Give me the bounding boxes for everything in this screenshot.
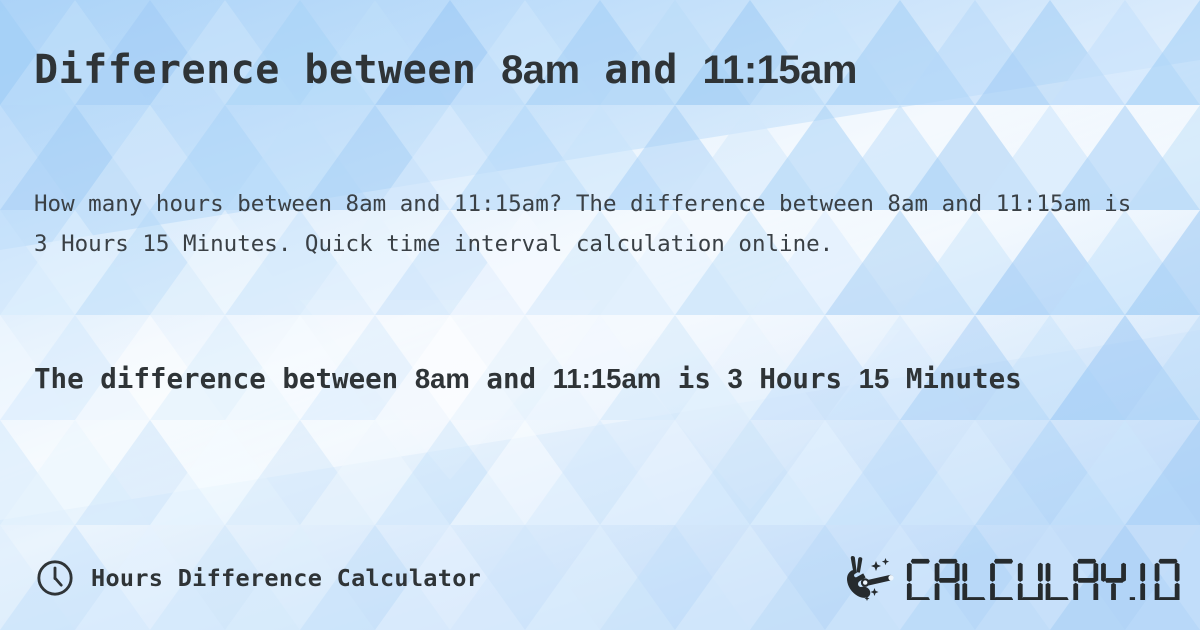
summary-paragraph: How many hours between 8am and 11:15am? … bbox=[34, 184, 1144, 264]
footer-tool-label: Hours Difference Calculator bbox=[91, 564, 481, 592]
answer-heading: The difference between 8am and 11:15am i… bbox=[34, 355, 1094, 403]
answer-hours-value: 3 bbox=[727, 363, 742, 394]
clock-icon bbox=[36, 559, 74, 597]
page-title-text-1: Difference between bbox=[34, 47, 501, 93]
share-card: Difference between 8am and 11:15am How m… bbox=[0, 0, 1200, 630]
answer-minutes-value: 15 bbox=[859, 363, 890, 394]
answer-end-time: 11:15am bbox=[553, 363, 662, 394]
answer-start-time: 8am bbox=[415, 363, 470, 394]
page-title: Difference between 8am and 11:15am bbox=[34, 44, 1174, 96]
answer-text-3: is bbox=[661, 363, 727, 395]
brand-wordmark bbox=[905, 556, 1182, 600]
footer: Hours Difference Calculator bbox=[0, 548, 1200, 612]
page-title-start-time: 8am bbox=[501, 48, 580, 92]
page-title-text-2: and bbox=[580, 47, 703, 93]
answer-text-4: Hours bbox=[743, 363, 859, 395]
answer-text-5: Minutes bbox=[889, 363, 1021, 395]
magic-wand-hand-icon bbox=[843, 553, 899, 603]
footer-tool[interactable]: Hours Difference Calculator bbox=[36, 548, 481, 608]
brand-logo[interactable]: CALCULAT.IO bbox=[843, 548, 1182, 608]
page-title-end-time: 11:15am bbox=[703, 48, 857, 92]
answer-text-2: and bbox=[470, 363, 553, 395]
answer-text-1: The difference between bbox=[34, 363, 415, 395]
